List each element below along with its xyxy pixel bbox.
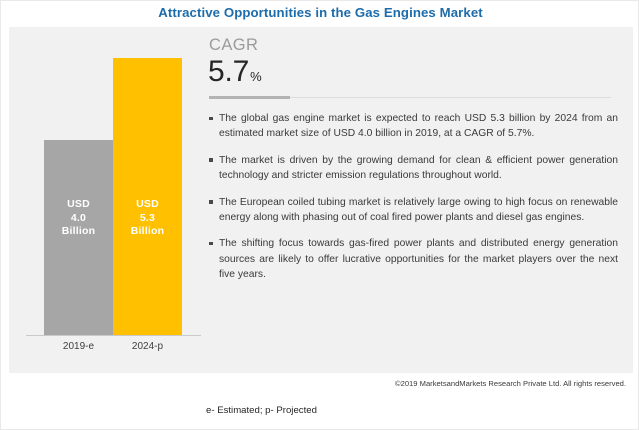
x-axis-line — [26, 335, 201, 336]
list-item: The European coiled tubing market is rel… — [208, 195, 618, 226]
bar-2024-p[interactable]: USD 5.3 Billion — [113, 58, 182, 335]
infographic-frame: Attractive Opportunities in the Gas Engi… — [0, 0, 639, 430]
list-item: The market is driven by the growing dema… — [208, 153, 618, 184]
insights-panel: CAGR 5.7 % The global gas engine market … — [208, 27, 618, 373]
list-item-text: The global gas engine market is expected… — [219, 113, 618, 139]
bar-2019-e-currency: USD — [44, 198, 113, 212]
bar-2024-p-magnitude: Billion — [113, 225, 182, 239]
bar-2024-p-currency: USD — [113, 198, 182, 212]
bullet-square-icon — [209, 158, 213, 162]
bar-2024-p-value: 5.3 — [113, 212, 182, 226]
bar-2019-e[interactable]: USD 4.0 Billion — [44, 140, 113, 335]
divider-accent — [209, 96, 290, 99]
bar-2019-e-label: USD 4.0 Billion — [44, 198, 113, 239]
x-axis-tick-2019-e: 2019-e — [44, 341, 113, 352]
list-item: The shifting focus towards gas-fired pow… — [208, 236, 618, 282]
bullet-square-icon — [209, 117, 213, 121]
page-title: Attractive Opportunities in the Gas Engi… — [1, 5, 639, 20]
list-item-text: The shifting focus towards gas-fired pow… — [219, 238, 618, 280]
cagr-number: 5.7 — [208, 57, 249, 87]
bar-2019-e-magnitude: Billion — [44, 225, 113, 239]
cagr-percent-symbol: % — [250, 70, 262, 83]
x-axis-tick-2024-p: 2024-p — [113, 341, 182, 352]
list-item-text: The European coiled tubing market is rel… — [219, 197, 618, 223]
cagr-value: 5.7 % — [208, 57, 262, 87]
copyright-notice: ©2019 MarketsandMarkets Research Private… — [1, 379, 626, 388]
cagr-label: CAGR — [209, 36, 258, 55]
bullet-list: The global gas engine market is expected… — [208, 111, 618, 283]
bar-2019-e-value: 4.0 — [44, 212, 113, 226]
bullet-square-icon — [209, 242, 213, 246]
bar-chart: USD 4.0 Billion USD 5.3 Billion 2019-e 2… — [9, 27, 209, 373]
bullet-square-icon — [209, 200, 213, 204]
list-item-text: The market is driven by the growing dema… — [219, 155, 618, 181]
list-item: The global gas engine market is expected… — [208, 111, 618, 142]
legend-note: e- Estimated; p- Projected — [206, 405, 317, 416]
bar-2024-p-label: USD 5.3 Billion — [113, 198, 182, 239]
